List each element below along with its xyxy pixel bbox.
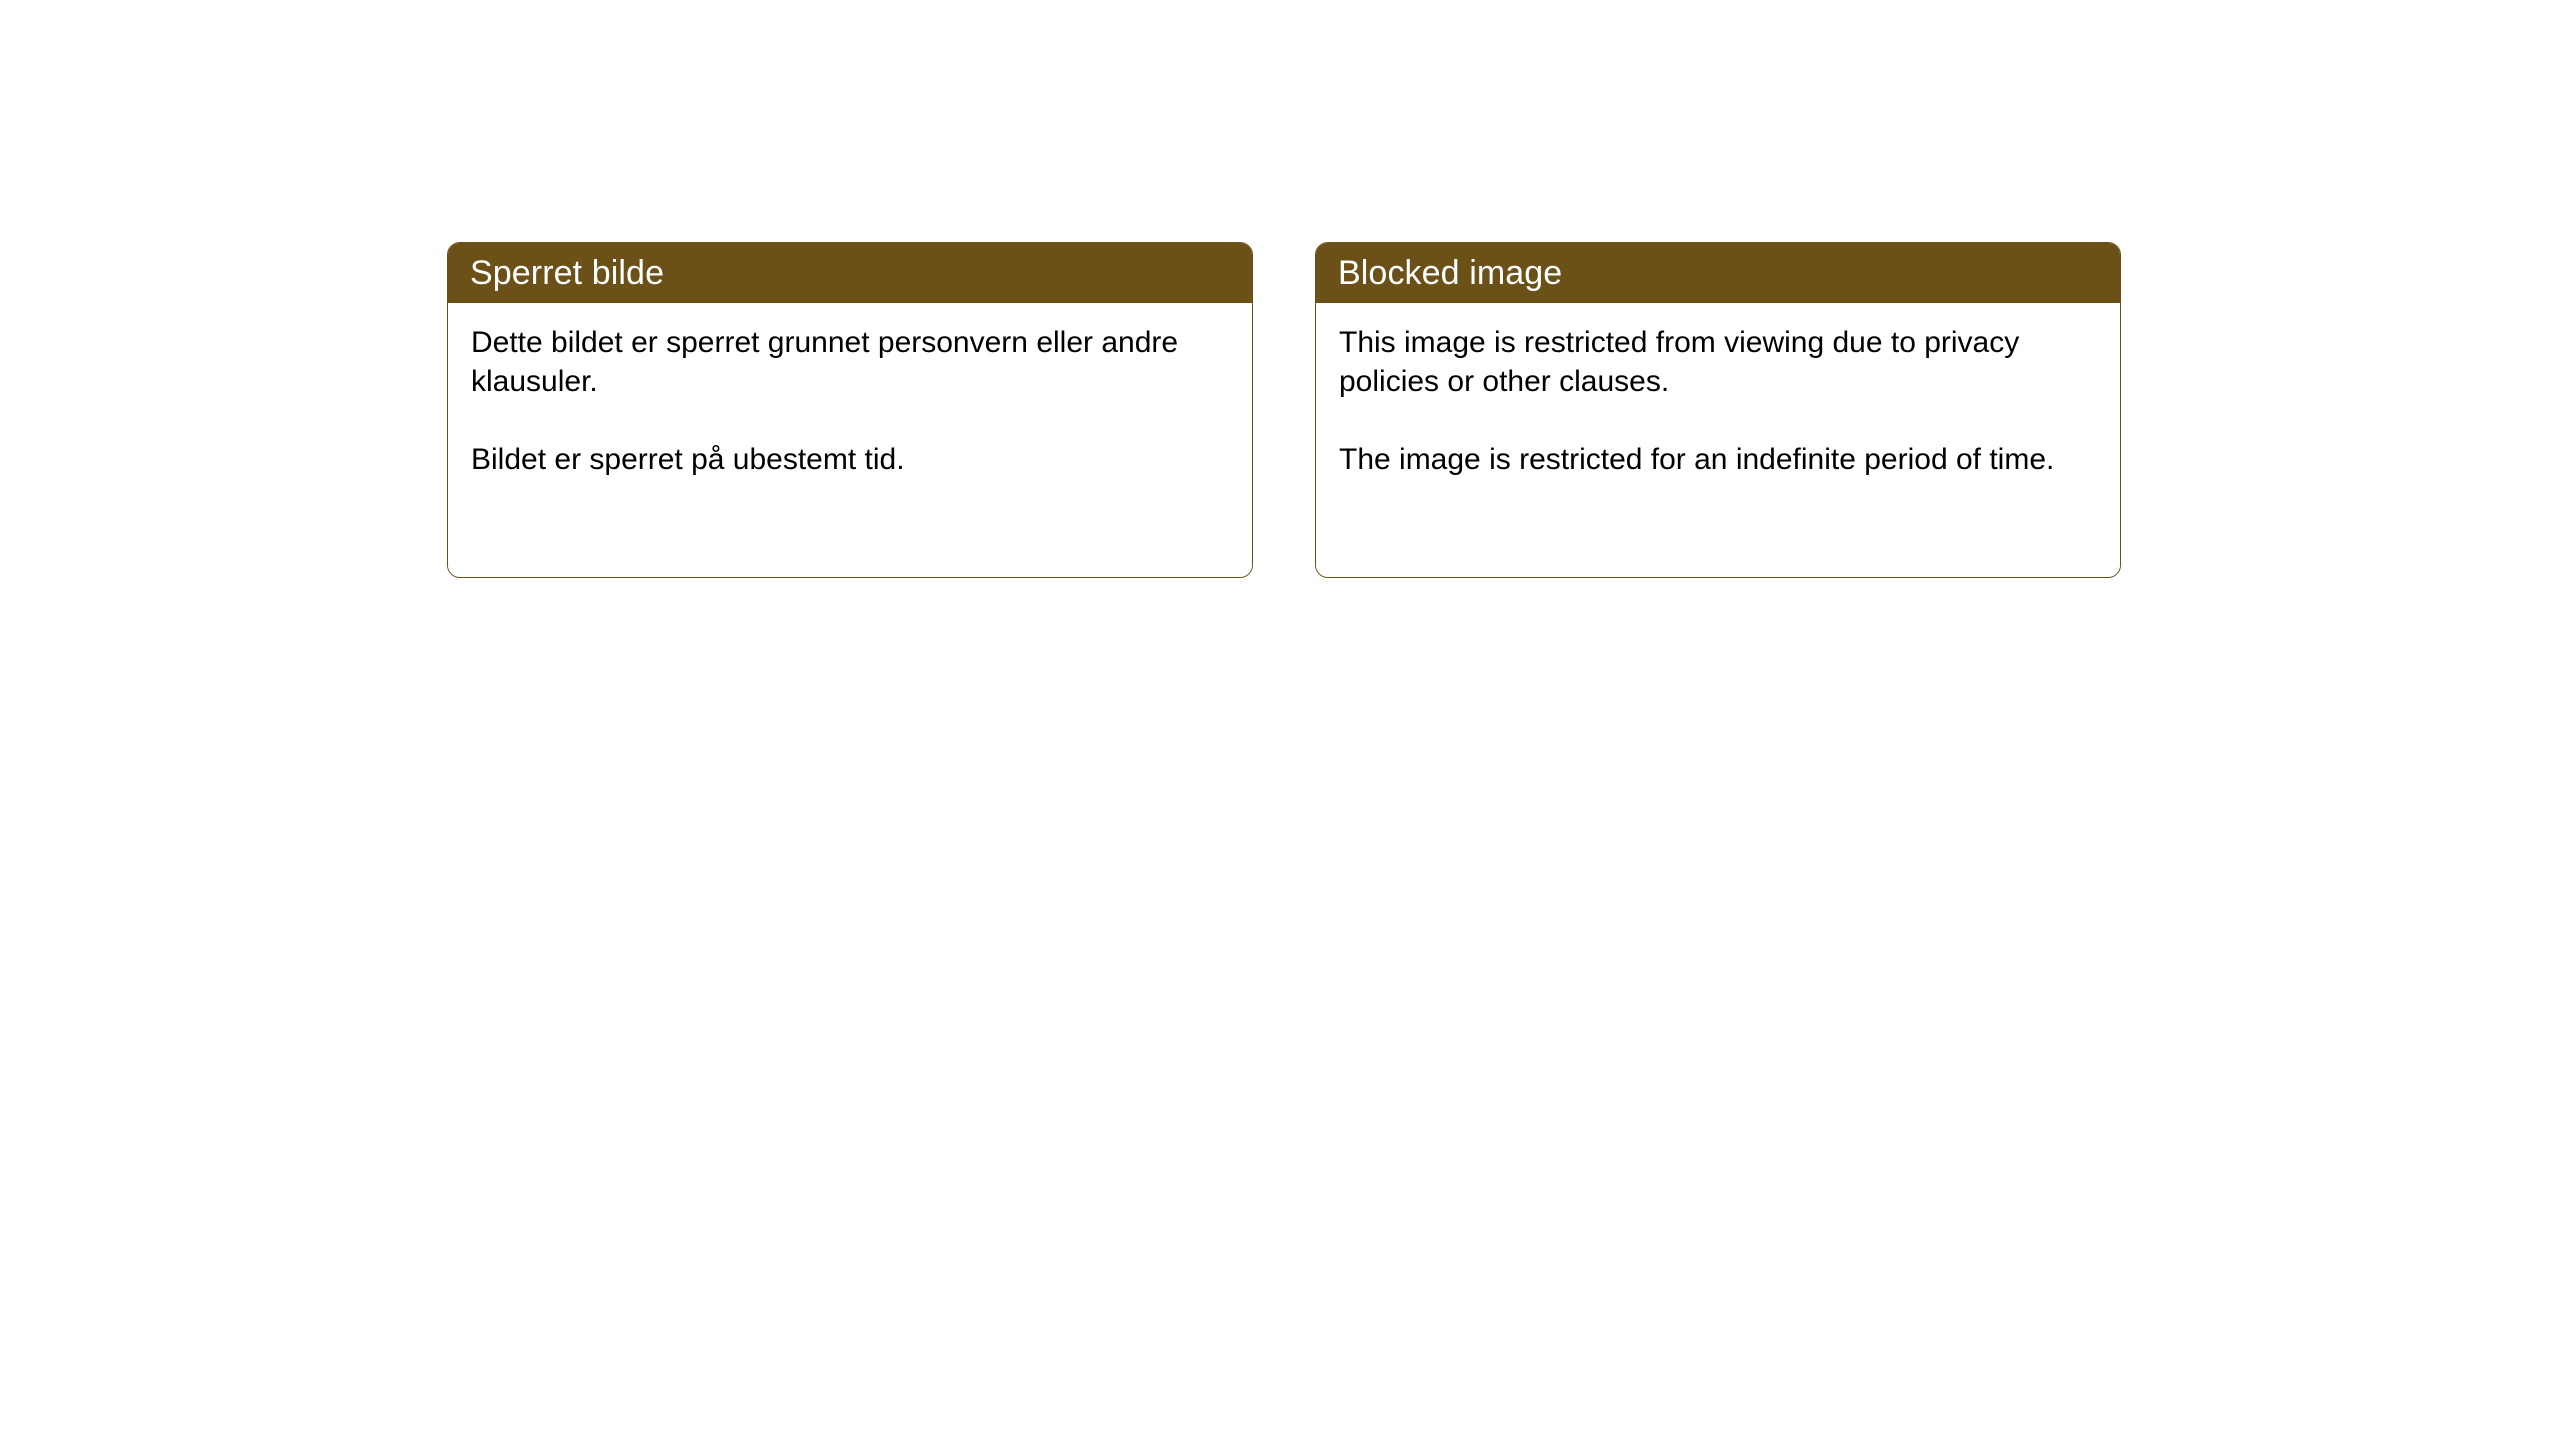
card-header-norwegian: Sperret bilde <box>447 242 1253 303</box>
blocked-image-card-norwegian: Sperret bilde Dette bildet er sperret gr… <box>447 242 1253 578</box>
card-body-english: This image is restricted from viewing du… <box>1316 303 2120 577</box>
card-title-norwegian: Sperret bilde <box>470 256 664 290</box>
card-paragraph-duration-norwegian: Bildet er sperret på ubestemt tid. <box>471 440 1228 479</box>
card-body-norwegian: Dette bildet er sperret grunnet personve… <box>448 303 1252 577</box>
blocked-image-card-english: Blocked image This image is restricted f… <box>1315 242 2121 578</box>
card-paragraph-reason-english: This image is restricted from viewing du… <box>1339 323 2096 401</box>
card-paragraph-reason-norwegian: Dette bildet er sperret grunnet personve… <box>471 323 1228 401</box>
blocked-image-notice-group: Sperret bilde Dette bildet er sperret gr… <box>447 242 2121 578</box>
card-header-english: Blocked image <box>1315 242 2121 303</box>
card-paragraph-duration-english: The image is restricted for an indefinit… <box>1339 440 2096 479</box>
card-title-english: Blocked image <box>1338 256 1562 290</box>
